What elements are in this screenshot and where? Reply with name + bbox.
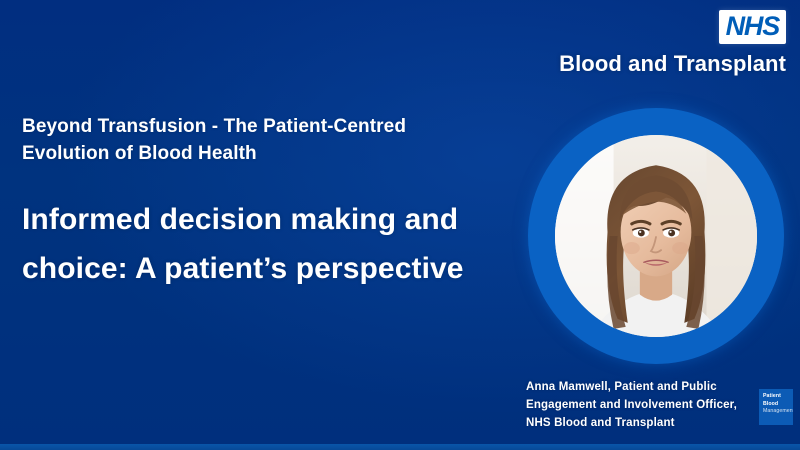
pbm-logo-line-1: Patient <box>763 393 790 401</box>
speaker-portrait-ring <box>528 108 784 364</box>
nhs-logo-subtitle: Blood and Transplant <box>548 51 786 77</box>
event-series-title: Beyond Transfusion - The Patient-Centred… <box>22 114 492 168</box>
pbm-logo-line-2: Blood <box>763 401 790 409</box>
speaker-portrait-photo <box>555 135 757 337</box>
nhs-logo: NHS Blood and Transplant <box>548 10 786 77</box>
pbm-logo-line-3: Management <box>763 408 790 416</box>
portrait-illustration <box>555 135 757 337</box>
presentation-slide: NHS Blood and Transplant Beyond Transfus… <box>0 0 800 450</box>
patient-blood-management-logo: Patient Blood Management <box>759 389 793 425</box>
talk-title: Informed decision making and choice: A p… <box>22 196 512 293</box>
bottom-accent-strip <box>0 444 800 450</box>
nhs-logo-text: NHS <box>726 13 779 40</box>
nhs-logo-box: NHS <box>719 10 786 44</box>
speaker-credit: Anna Mamwell, Patient and Public Engagem… <box>526 378 754 432</box>
